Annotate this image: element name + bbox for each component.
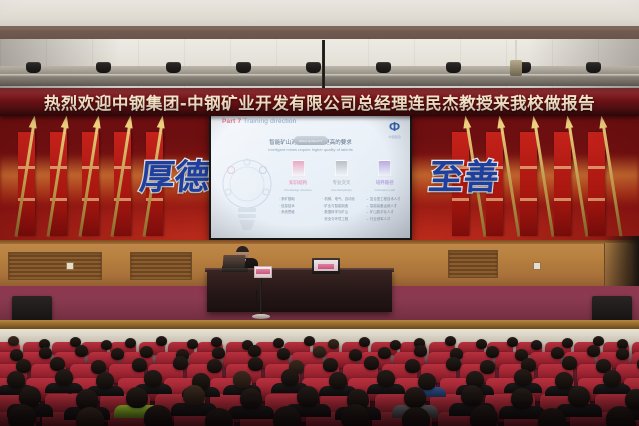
wall-plate-right xyxy=(533,262,541,270)
welcome-banner: 热烈欢迎中钢集团-中钢矿业开发有限公司总经理连民杰教授来我校做报告 xyxy=(0,88,639,116)
audience-head xyxy=(39,347,52,359)
audience-head xyxy=(551,347,564,359)
slide-bullet: · 安全与环境工程 xyxy=(322,216,360,223)
head-table xyxy=(207,270,392,312)
slide-headline-en: Intelligent mines require higher quality… xyxy=(268,147,353,152)
audience-head xyxy=(390,340,401,350)
audience-head xyxy=(476,339,487,349)
slide-column-title-en: Cultivation path xyxy=(374,188,395,192)
audience-head xyxy=(568,386,590,407)
audience-head xyxy=(616,348,629,360)
audience-head xyxy=(76,407,104,426)
audience-head xyxy=(562,338,573,348)
confidence-monitor xyxy=(312,258,340,274)
microphone-base xyxy=(252,314,270,319)
audience-head xyxy=(211,337,222,347)
audience-head xyxy=(603,370,621,387)
slide-logo: Ф 中钢集团 xyxy=(386,118,403,135)
truss-lamp-icon xyxy=(96,62,111,73)
placard-name-strip xyxy=(256,269,270,274)
audience-head xyxy=(248,357,263,371)
audience-head xyxy=(378,347,391,359)
slide-bullet: → 复合型工程技术人才 xyxy=(366,196,404,203)
audience-head xyxy=(418,373,436,390)
audience-head xyxy=(173,356,188,370)
slide-logo-caption: 中钢集团 xyxy=(386,135,403,139)
audience-head xyxy=(402,407,430,426)
audience-head xyxy=(404,387,426,408)
wall-vent-left xyxy=(8,252,102,280)
audience-head xyxy=(486,346,499,358)
audience-head xyxy=(240,388,262,409)
audience-head xyxy=(470,405,498,426)
audience-head xyxy=(531,340,542,350)
slide-column-group: 知识结构Knowledge structure· 采矿基础· 信息技术· 系统思… xyxy=(279,160,404,234)
audience-area xyxy=(0,336,639,426)
audience-head xyxy=(405,359,420,373)
slide-column: 专业交叉Interdisciplinary· 机械、电气、自动化· 矿业与智能制… xyxy=(322,160,360,234)
audience-head xyxy=(132,358,147,372)
slide-column-title-cn: 知识结构 xyxy=(289,180,307,186)
audience-head xyxy=(562,356,577,370)
slide-column-bullets: → 复合型工程技术人才→ 智能装备运维人才→ 矿山数字化人才→ 行业领军人才 xyxy=(366,196,404,223)
audience-head xyxy=(277,348,290,360)
slide-title-topic: Training direction xyxy=(243,118,296,125)
audience-head xyxy=(96,372,114,389)
audience-head xyxy=(445,336,456,346)
slide-column-icon xyxy=(292,160,305,177)
truss-lamp-icon xyxy=(446,62,461,73)
truss-lamp-icon xyxy=(166,62,181,73)
audience-head xyxy=(281,369,299,386)
audience-head xyxy=(111,348,124,360)
audience-head xyxy=(248,345,261,357)
audience-head xyxy=(329,372,347,389)
audience-head xyxy=(555,372,573,389)
audience-head xyxy=(207,359,222,373)
slide-title: Part 7 Training direction xyxy=(222,118,297,125)
presentation-slide: Part 7 Training direction Ф 中钢集团 智能矿山对人才… xyxy=(211,114,410,238)
right-corner-shadow xyxy=(603,236,639,292)
laptop-keyboard xyxy=(222,268,248,272)
slide-bullet: · 信息技术 xyxy=(279,203,317,210)
truss-lamp-icon xyxy=(586,62,601,73)
slide-column-icon xyxy=(378,160,391,177)
audience-head xyxy=(101,340,112,350)
lightbulb-illustration-icon xyxy=(221,154,273,232)
projection-screen: Part 7 Training direction Ф 中钢集团 智能矿山对人才… xyxy=(209,112,412,240)
confidence-monitor-screen xyxy=(314,260,338,271)
hanging-fixture-icon xyxy=(515,40,517,62)
audience-head xyxy=(359,337,370,347)
truss-rail xyxy=(0,74,639,77)
wall-plate-left xyxy=(66,262,74,270)
slide-column-title-en: Interdisciplinary xyxy=(331,188,352,192)
slide-bullet: · 系统思维 xyxy=(279,209,317,216)
slide-bullet: · 采矿基础 xyxy=(279,196,317,203)
audience-head xyxy=(349,349,362,361)
slide-bullet: → 智能装备运维人才 xyxy=(366,203,404,210)
audience-head xyxy=(297,386,319,407)
audience-head xyxy=(8,404,36,426)
slide-title-part: Part 7 xyxy=(222,118,241,125)
audience-head xyxy=(323,358,338,372)
slide-bullet: · 矿业与智能制造 xyxy=(322,203,360,210)
audience-head xyxy=(480,360,495,374)
audience-head xyxy=(507,337,518,347)
audience-head xyxy=(587,345,600,357)
audience-head xyxy=(156,336,167,346)
audience-head xyxy=(126,387,148,408)
audience-head xyxy=(273,338,284,348)
truss-lamp-icon xyxy=(306,62,321,73)
company-logo-icon: Ф xyxy=(389,120,400,133)
slide-bullet: · 数据科学与矿山 xyxy=(322,209,360,216)
name-placard-1 xyxy=(254,266,272,278)
audience-head xyxy=(414,345,427,357)
audience-head xyxy=(125,338,136,348)
audience-head xyxy=(144,370,162,387)
welcome-banner-text: 热烈欢迎中钢集团-中钢矿业开发有限公司总经理连民杰教授来我校做报告 xyxy=(0,88,639,116)
slide-column: 培养路径Cultivation path→ 复合型工程技术人才→ 智能装备运维人… xyxy=(366,160,404,234)
audience-head xyxy=(446,357,461,371)
slide-bullet: → 矿山数字化人才 xyxy=(366,209,404,216)
truss-lamp-icon xyxy=(26,62,41,73)
slide-headline-pill: HIGH QUALITY xyxy=(294,136,328,145)
slide-bullet: → 行业领军人才 xyxy=(366,216,404,223)
audience-head xyxy=(8,336,19,346)
slide-bullet: · 机械、电气、自动化 xyxy=(322,196,360,203)
slide-column: 知识结构Knowledge structure· 采矿基础· 信息技术· 系统思… xyxy=(279,160,317,234)
audience-head xyxy=(183,385,205,406)
ceiling-trim-band xyxy=(0,26,639,40)
slide-column-title-cn: 培养路径 xyxy=(376,180,394,186)
audience-head xyxy=(606,406,634,426)
truss-lamp-icon xyxy=(236,62,251,73)
audience-head xyxy=(140,346,153,358)
audience-head xyxy=(212,347,225,359)
audience-head xyxy=(233,371,251,388)
audience-head xyxy=(273,406,301,426)
slide-column-title-en: Knowledge structure xyxy=(284,188,311,192)
audience-head xyxy=(514,369,532,386)
slide-column-bullets: · 采矿基础· 信息技术· 系统思维 xyxy=(279,196,317,216)
auditorium-photo: 厚德 博学 笃行 至善 Part 7 Training direction Ф … xyxy=(0,0,639,426)
audience-head xyxy=(55,369,73,386)
audience-head xyxy=(75,345,88,357)
audience-head xyxy=(328,339,339,349)
audience-head xyxy=(364,356,379,370)
audience-head xyxy=(144,405,172,426)
laptop-screen xyxy=(223,255,246,269)
audience-head xyxy=(511,388,533,409)
slide-column-title-cn: 专业交叉 xyxy=(332,180,350,186)
audience-head xyxy=(341,404,369,426)
wall-vent-right xyxy=(448,250,498,278)
wall-vent-left-2 xyxy=(130,252,192,280)
lower-wall-top-edge xyxy=(0,240,639,244)
truss-lamp-icon xyxy=(376,62,391,73)
audience-head xyxy=(7,371,25,388)
audience-head xyxy=(304,336,315,346)
audience-head xyxy=(461,385,483,406)
slide-column-icon xyxy=(335,160,348,177)
slide-column-bullets: · 机械、电气、自动化· 矿业与智能制造· 数据科学与矿山· 安全与环境工程 xyxy=(322,196,360,223)
audience-head xyxy=(187,339,198,349)
audience-head xyxy=(377,370,395,387)
audience-head xyxy=(313,346,326,358)
